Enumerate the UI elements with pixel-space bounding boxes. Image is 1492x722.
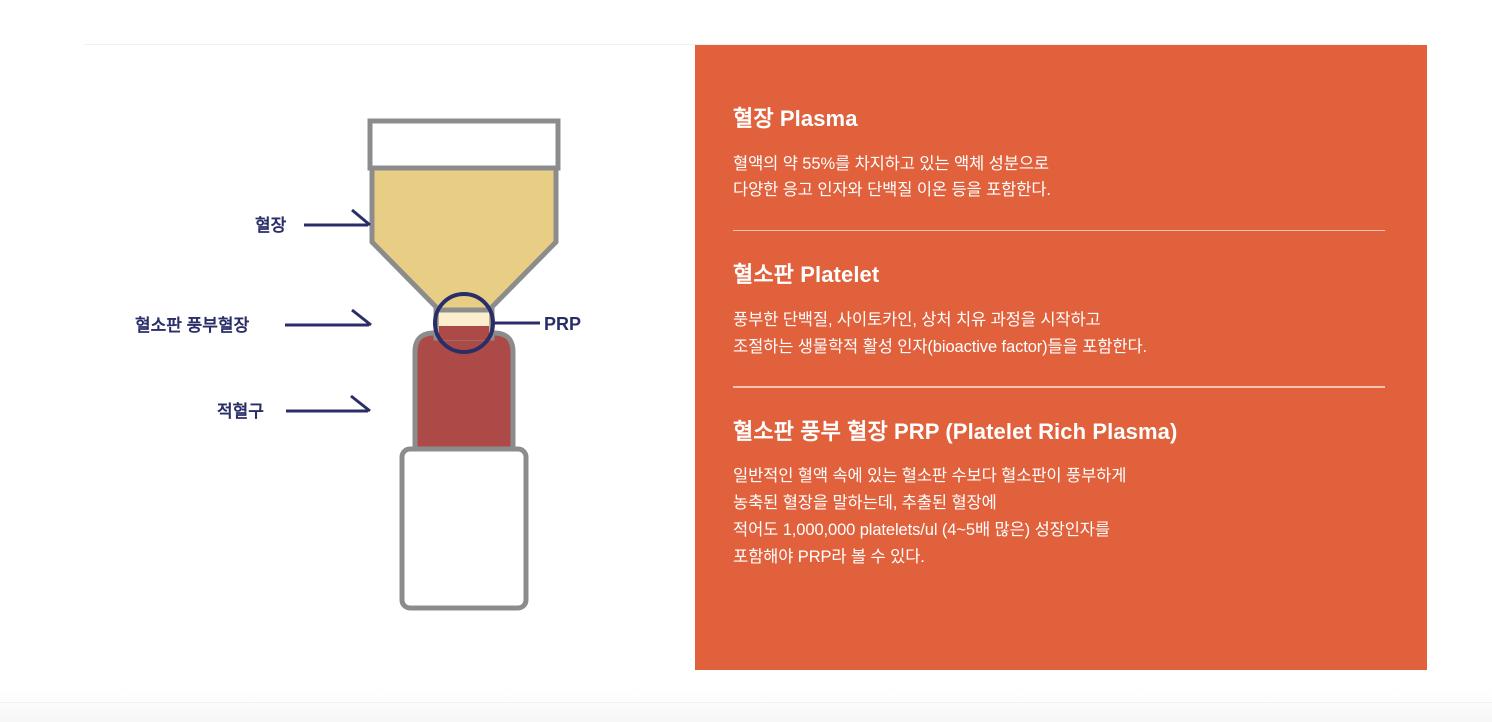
label-prp-layer-text: 혈소판 풍부혈장 xyxy=(135,315,250,335)
section-plasma: 혈장 Plasma 혈액의 약 55%를 차지하고 있는 액체 성분으로 다양한… xyxy=(733,105,1391,204)
section-prp-body: 일반적인 혈액 속에 있는 혈소판 수보다 혈소판이 풍부하게 농축된 혈장을 … xyxy=(733,463,1391,570)
label-rbc-text: 적혈구 xyxy=(217,401,264,421)
section-platelet-heading: 혈소판 Platelet xyxy=(733,261,1391,289)
arrow-right-icon-prp-layer xyxy=(352,310,371,325)
section-plasma-body: 혈액의 약 55%를 차지하고 있는 액체 성분으로 다양한 응고 인자와 단백… xyxy=(733,151,1391,204)
section-prp-heading: 혈소판 풍부 혈장 PRP (Platelet Rich Plasma) xyxy=(733,418,1391,446)
section-platelet: 혈소판 Platelet 풍부한 단백질, 사이토카인, 상처 치유 과정을 시… xyxy=(733,261,1391,360)
section-plasma-heading: 혈장 Plasma xyxy=(733,105,1391,133)
info-panel: 혈장 Plasma 혈액의 약 55%를 차지하고 있는 액체 성분으로 다양한… xyxy=(695,45,1427,670)
arrow-right-icon-plasma xyxy=(352,210,370,225)
page-root: 혈장 혈소판 풍부혈장 적혈구 PRP xyxy=(0,0,1492,722)
section-prp: 혈소판 풍부 혈장 PRP (Platelet Rich Plasma) 일반적… xyxy=(733,418,1391,570)
label-rbc-group: 적혈구 xyxy=(217,396,370,421)
label-plasma-group: 혈장 xyxy=(255,210,370,235)
page-bottom-rule xyxy=(0,702,1492,703)
section-platelet-body: 풍부한 단백질, 사이토카인, 상처 치유 과정을 시작하고 조절하는 생물학적… xyxy=(733,307,1391,360)
page-bottom-band xyxy=(0,688,1492,722)
section-divider-1 xyxy=(733,230,1385,232)
blood-tube-diagram: 혈장 혈소판 풍부혈장 적혈구 PRP xyxy=(100,45,680,670)
label-prp-callout-text: PRP xyxy=(544,314,581,334)
vial-body-shape xyxy=(402,449,526,608)
label-plasma-text: 혈장 xyxy=(255,215,287,235)
label-prp-layer-group: 혈소판 풍부혈장 xyxy=(135,310,371,335)
tube-cap-shape xyxy=(370,121,558,168)
section-divider-2 xyxy=(733,386,1385,388)
label-prp-callout-group: PRP xyxy=(493,314,581,334)
arrow-right-icon-rbc xyxy=(351,396,370,411)
